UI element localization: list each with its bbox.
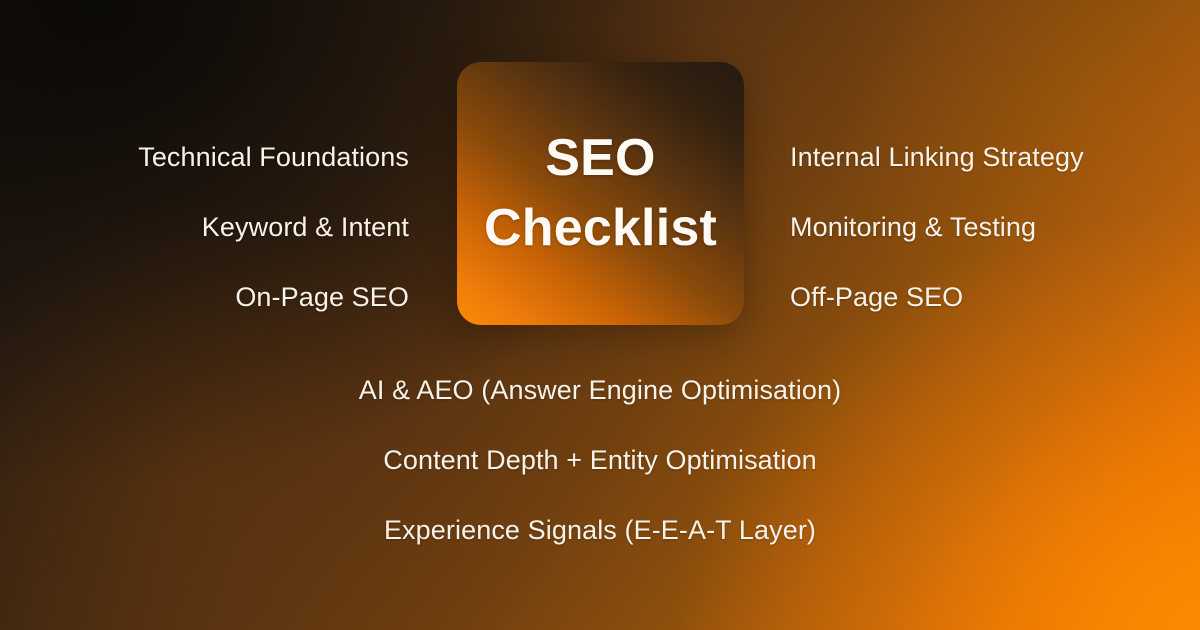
list-item: Keyword & Intent	[60, 192, 409, 262]
list-item: Experience Signals (E-E-A-T Layer)	[0, 495, 1200, 565]
list-item: Off-Page SEO	[790, 262, 1190, 332]
right-label-column: Internal Linking Strategy Monitoring & T…	[790, 122, 1190, 332]
page-title: SEO Checklist	[472, 124, 729, 262]
list-item: Internal Linking Strategy	[790, 122, 1190, 192]
page-title-line-2: Checklist	[484, 199, 717, 257]
list-item: On-Page SEO	[60, 262, 409, 332]
list-item: Monitoring & Testing	[790, 192, 1190, 262]
list-item: AI & AEO (Answer Engine Optimisation)	[0, 355, 1200, 425]
left-label-column: Technical Foundations Keyword & Intent O…	[60, 122, 409, 332]
poster-canvas: Technical Foundations Keyword & Intent O…	[0, 0, 1200, 630]
page-title-line-1: SEO	[545, 129, 655, 187]
list-item: Technical Foundations	[60, 122, 409, 192]
seo-checklist-card: SEO Checklist	[457, 62, 744, 325]
list-item: Content Depth + Entity Optimisation	[0, 425, 1200, 495]
bottom-label-list: AI & AEO (Answer Engine Optimisation) Co…	[0, 355, 1200, 565]
